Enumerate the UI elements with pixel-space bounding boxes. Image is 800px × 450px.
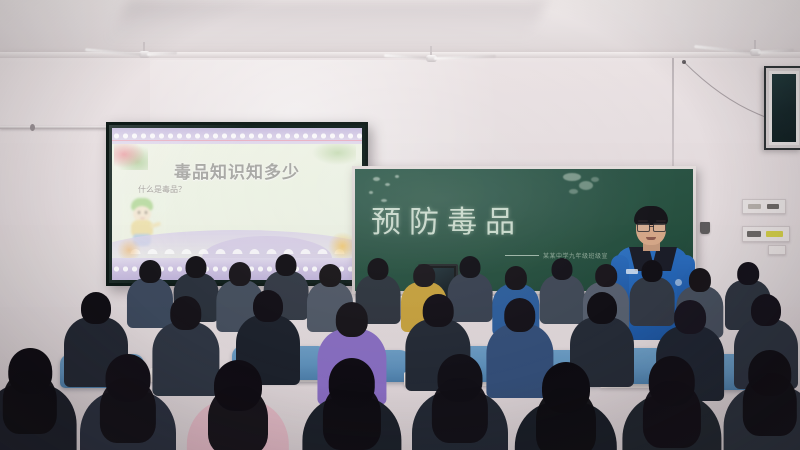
student — [622, 356, 721, 450]
student — [515, 362, 617, 450]
slide-title: 毒品知识知多少 — [112, 158, 362, 183]
student-hair — [323, 383, 381, 450]
classroom-photo: 毒品知识知多少 什么是毒品？ — [0, 0, 800, 450]
wall-fixture — [700, 222, 710, 234]
ceiling-shadow — [112, 0, 547, 38]
wall-rail — [0, 126, 112, 129]
student — [187, 360, 289, 450]
student — [302, 358, 401, 450]
presenter-brow-left — [638, 220, 648, 222]
slide-border-top — [112, 128, 362, 144]
wall-mounted-display — [764, 66, 800, 150]
wall-control-panel-lower[interactable] — [742, 226, 790, 242]
wall-rail-knob — [30, 124, 35, 131]
student — [724, 350, 800, 450]
student-hair — [536, 388, 596, 450]
ceiling-fan-left-icon — [84, 42, 204, 64]
presenter-mouth — [646, 237, 656, 240]
student-hair — [743, 373, 797, 436]
blackboard-heading: 预防毒品 — [371, 197, 523, 241]
student-hair — [100, 378, 156, 443]
student-hair — [643, 381, 701, 448]
student — [412, 354, 508, 450]
presenter-brow-right — [656, 220, 666, 222]
student-hair — [208, 386, 268, 450]
student — [0, 348, 76, 450]
student-hair — [432, 378, 488, 443]
glasses-icon — [637, 223, 666, 230]
student-hair — [3, 371, 57, 434]
student-audience — [0, 250, 800, 450]
ceiling-fan-right-icon — [690, 40, 800, 62]
student — [80, 354, 176, 450]
audience-row-front — [0, 250, 800, 450]
ceiling-fan-center-icon — [366, 46, 496, 68]
wall-control-panel-upper[interactable] — [742, 199, 786, 214]
